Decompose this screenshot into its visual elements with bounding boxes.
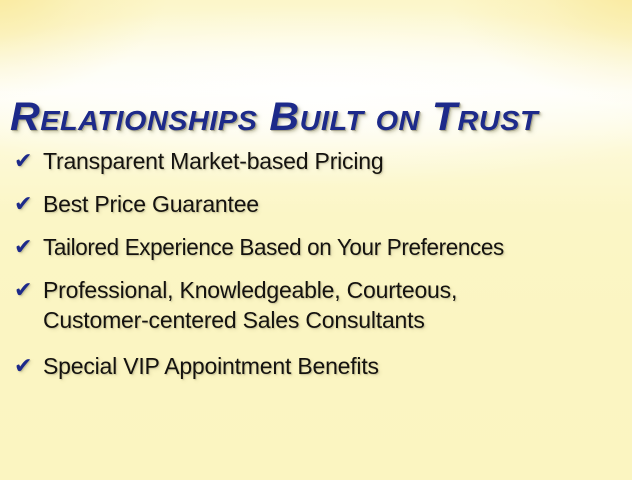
check-mark-icon: ✔ xyxy=(10,351,43,381)
slide-title: Relationships Built on Trust xyxy=(10,96,632,138)
presentation-slide: Relationships Built on Trust ✔ Transpare… xyxy=(0,0,632,480)
list-item: ✔ Professional, Knowledgeable, Courteous… xyxy=(10,275,630,335)
list-item: ✔ Special VIP Appointment Benefits xyxy=(10,351,630,381)
list-item-label: Tailored Experience Based on Your Prefer… xyxy=(43,232,615,262)
slide-content: Relationships Built on Trust ✔ Transpare… xyxy=(0,0,632,480)
check-mark-icon: ✔ xyxy=(10,146,43,176)
check-mark-icon: ✔ xyxy=(10,275,43,305)
list-item: ✔ Tailored Experience Based on Your Pref… xyxy=(10,232,630,262)
list-item-label: Special VIP Appointment Benefits xyxy=(43,351,630,381)
check-mark-icon: ✔ xyxy=(10,232,43,262)
list-item: ✔ Transparent Market-based Pricing xyxy=(10,146,630,176)
bullet-list: ✔ Transparent Market-based Pricing ✔ Bes… xyxy=(10,146,630,394)
list-item: ✔ Best Price Guarantee xyxy=(10,189,630,219)
list-item-label: Transparent Market-based Pricing xyxy=(43,146,630,176)
list-item-label: Professional, Knowledgeable, Courteous, … xyxy=(43,275,630,335)
list-item-label: Best Price Guarantee xyxy=(43,189,630,219)
check-mark-icon: ✔ xyxy=(10,189,43,219)
